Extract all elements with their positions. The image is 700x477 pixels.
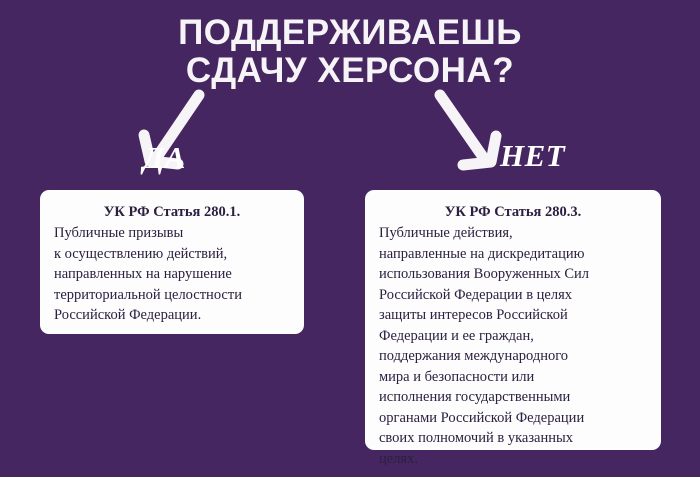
text-line: использования Вооруженных Сил xyxy=(379,264,647,285)
infographic-poster: ПОДДЕРЖИВАЕШЬ СДАЧУ ХЕРСОНА? ДА НЕТ УК Р… xyxy=(0,0,700,477)
answer-label-no: НЕТ xyxy=(500,140,565,171)
text-line: защиты интересов Российской xyxy=(379,305,647,326)
text-line: Федерации и ее граждан, xyxy=(379,326,647,347)
text-line: территориальной целостности xyxy=(54,285,290,306)
text-line: Публичные призывы xyxy=(54,223,290,244)
page-title: ПОДДЕРЖИВАЕШЬ СДАЧУ ХЕРСОНА? xyxy=(0,14,700,90)
law-card-yes: УК РФ Статья 280.1. Публичные призывык о… xyxy=(40,190,304,334)
law-card-no-heading: УК РФ Статья 280.3. xyxy=(379,202,647,222)
text-line: органами Российской Федерации xyxy=(379,408,647,429)
text-line: направленных на нарушение xyxy=(54,264,290,285)
law-card-no-body: Публичные действия,направленные на дискр… xyxy=(379,223,647,469)
title-line-2: СДАЧУ ХЕРСОНА? xyxy=(0,52,700,90)
title-line-1: ПОДДЕРЖИВАЕШЬ xyxy=(178,13,522,52)
law-card-yes-heading: УК РФ Статья 280.1. xyxy=(54,202,290,222)
text-line: Российской Федерации в целях xyxy=(379,285,647,306)
text-line: исполнения государственными xyxy=(379,387,647,408)
text-line: своих полномочий в указанных xyxy=(379,428,647,449)
text-line: Российской Федерации. xyxy=(54,305,290,326)
law-card-yes-body: Публичные призывык осуществлению действи… xyxy=(54,223,290,326)
text-line: к осуществлению действий, xyxy=(54,244,290,265)
law-card-no: УК РФ Статья 280.3. Публичные действия,н… xyxy=(365,190,661,450)
answer-label-yes: ДА xyxy=(143,142,186,173)
text-line: Публичные действия, xyxy=(379,223,647,244)
text-line: целях. xyxy=(379,449,647,470)
text-line: мира и безопасности или xyxy=(379,367,647,388)
text-line: направленные на дискредитацию xyxy=(379,244,647,265)
text-line: поддержания международного xyxy=(379,346,647,367)
